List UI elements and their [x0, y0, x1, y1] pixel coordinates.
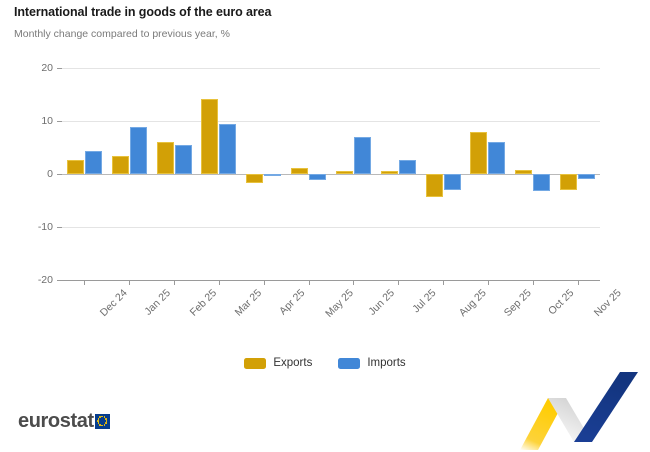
- bar-imports-sep-25[interactable]: [488, 142, 505, 174]
- bar-group: May 25: [286, 68, 331, 280]
- plot-area: 20100-10-20Dec 24Jan 25Feb 25Mar 25Apr 2…: [62, 68, 600, 280]
- y-axis-tick-label: 10: [41, 115, 53, 127]
- x-axis-tickmark: [219, 280, 220, 285]
- bar-exports-aug-25[interactable]: [426, 174, 443, 197]
- y-axis-tick-label: 20: [41, 62, 53, 74]
- x-axis-tickmark: [129, 280, 130, 285]
- y-axis-tick-label: -10: [38, 221, 53, 233]
- bar-imports-aug-25[interactable]: [444, 174, 461, 190]
- x-axis-tick-label: Mar 25: [232, 287, 264, 319]
- bar-exports-apr-25[interactable]: [246, 174, 263, 183]
- x-axis-tickmark: [264, 280, 265, 285]
- eu-flag-star: [99, 424, 101, 426]
- legend-swatch-imports: [338, 358, 360, 369]
- x-axis-tickmark: [309, 280, 310, 285]
- legend-label-imports: Imports: [367, 357, 405, 369]
- bar-exports-nov-25[interactable]: [560, 174, 577, 190]
- bar-imports-dec-24[interactable]: [85, 151, 102, 174]
- eu-flag-star: [101, 425, 103, 427]
- bar-exports-may-25[interactable]: [291, 168, 308, 174]
- legend-item-exports[interactable]: Exports: [244, 357, 312, 369]
- bar-group: Nov 25: [555, 68, 600, 280]
- bar-imports-jul-25[interactable]: [399, 160, 416, 174]
- eurostat-logo: eurostat: [18, 411, 110, 431]
- bar-exports-jun-25[interactable]: [336, 171, 353, 174]
- eu-flag-star: [97, 420, 99, 422]
- bar-group: Sep 25: [466, 68, 511, 280]
- bar-exports-oct-25[interactable]: [515, 170, 532, 174]
- x-axis-tickmark: [578, 280, 579, 285]
- legend-item-imports[interactable]: Imports: [338, 357, 405, 369]
- bar-group: Aug 25: [421, 68, 466, 280]
- bar-imports-feb-25[interactable]: [175, 145, 192, 174]
- x-axis-tick-label: May 25: [323, 287, 356, 320]
- bar-exports-dec-24[interactable]: [67, 160, 84, 174]
- x-axis-tick-label: Oct 25: [546, 287, 576, 317]
- x-axis-tick-label: Dec 24: [98, 287, 130, 319]
- bar-exports-jan-25[interactable]: [112, 156, 129, 174]
- eurostat-wordmark: eurostat: [18, 411, 94, 431]
- eu-flag-star: [99, 416, 101, 418]
- eu-flag-star: [98, 422, 100, 424]
- bar-imports-mar-25[interactable]: [219, 124, 236, 174]
- eu-flag-star: [104, 424, 106, 426]
- bar-group: Jun 25: [331, 68, 376, 280]
- chart-legend: Exports Imports: [0, 357, 650, 369]
- bar-imports-jun-25[interactable]: [354, 137, 371, 174]
- eu-flag-star: [105, 422, 107, 424]
- bar-group: Apr 25: [241, 68, 286, 280]
- bar-group: Dec 24: [62, 68, 107, 280]
- eu-flag-star: [101, 416, 103, 418]
- bar-group: Mar 25: [197, 68, 242, 280]
- gridline: [62, 280, 600, 281]
- bar-exports-mar-25[interactable]: [201, 99, 218, 174]
- legend-swatch-exports: [244, 358, 266, 369]
- x-axis-tickmark: [174, 280, 175, 285]
- x-axis-tick-label: Jan 25: [142, 287, 173, 318]
- bar-imports-oct-25[interactable]: [533, 174, 550, 191]
- bar-imports-apr-25[interactable]: [264, 174, 281, 176]
- x-axis-tick-label: Jul 25: [410, 287, 438, 315]
- bar-exports-jul-25[interactable]: [381, 171, 398, 174]
- x-axis-tick-label: Jun 25: [367, 287, 398, 318]
- y-axis-tick-label: 0: [47, 168, 53, 180]
- y-axis-tickmark: [57, 280, 62, 281]
- x-axis-tickmark: [353, 280, 354, 285]
- chart-footer: eurostat: [0, 386, 650, 451]
- x-axis-tick-label: Aug 25: [457, 287, 489, 319]
- bar-group: Jul 25: [376, 68, 421, 280]
- bar-group: Jan 25: [107, 68, 152, 280]
- x-axis-tickmark: [533, 280, 534, 285]
- eu-flag-icon: [95, 414, 110, 429]
- decorative-corner-logo: [510, 372, 650, 452]
- x-axis-tick-label: Feb 25: [188, 287, 220, 319]
- x-axis-tick-label: Apr 25: [277, 287, 307, 317]
- x-axis-tickmark: [443, 280, 444, 285]
- bar-imports-nov-25[interactable]: [578, 174, 595, 179]
- y-axis-tick-label: -20: [38, 274, 53, 286]
- legend-label-exports: Exports: [273, 357, 312, 369]
- bar-exports-feb-25[interactable]: [157, 142, 174, 174]
- x-axis-tick-label: Sep 25: [502, 287, 534, 319]
- x-axis-tick-label: Nov 25: [591, 287, 623, 319]
- bar-exports-sep-25[interactable]: [470, 132, 487, 174]
- eu-flag-star: [98, 418, 100, 420]
- bar-group: Feb 25: [152, 68, 197, 280]
- x-axis-tickmark: [398, 280, 399, 285]
- x-axis-tickmark: [488, 280, 489, 285]
- bar-group: Oct 25: [510, 68, 555, 280]
- bar-imports-jan-25[interactable]: [130, 127, 147, 174]
- bar-imports-may-25[interactable]: [309, 174, 326, 180]
- x-axis-tickmark: [84, 280, 85, 285]
